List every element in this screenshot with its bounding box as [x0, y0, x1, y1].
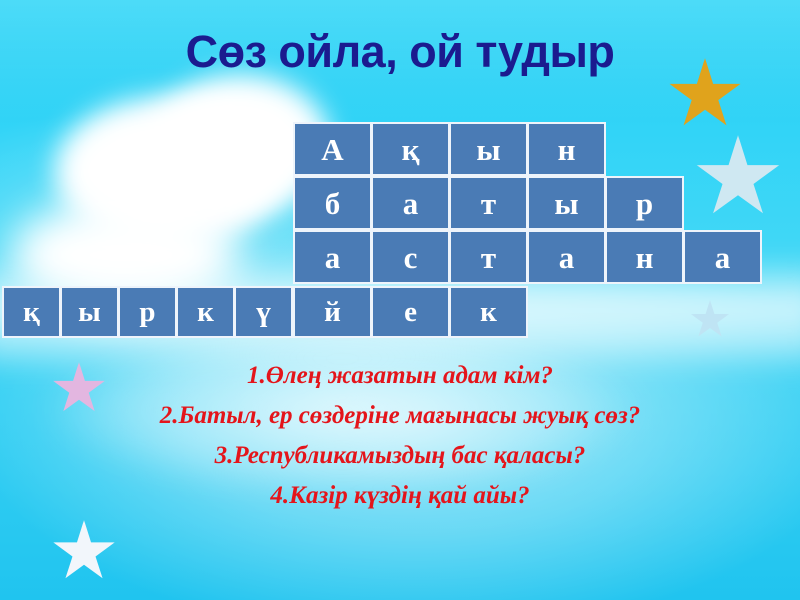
crossword-cell: б [293, 176, 372, 230]
crossword-cell: к [176, 286, 235, 338]
crossword-cell: ы [449, 122, 528, 176]
crossword-grid: Ақынбатырастанақыркүйек [0, 0, 800, 600]
crossword-cell: қ [2, 286, 61, 338]
crossword-cell: р [605, 176, 684, 230]
crossword-cell: а [293, 230, 372, 284]
questions-list: 1.Өлең жазатын адам кім?2.Батыл, ер сөзд… [0, 362, 800, 510]
crossword-cell: т [449, 230, 528, 284]
crossword-cell: с [371, 230, 450, 284]
crossword-cell: р [118, 286, 177, 338]
question-4: 4.Казір күздің қай айы? [0, 482, 800, 510]
crossword-cell: А [293, 122, 372, 176]
crossword-cell: т [449, 176, 528, 230]
crossword-cell: н [605, 230, 684, 284]
crossword-cell: қ [371, 122, 450, 176]
crossword-cell: е [371, 286, 450, 338]
question-2: 2.Батыл, ер сөздеріне мағынасы жуық сөз? [0, 402, 800, 430]
crossword-cell: а [371, 176, 450, 230]
slide-canvas: Сөз ойла, ой тудыр Ақынбатырастанақыркүй… [0, 0, 800, 600]
page-title: Сөз ойла, ой тудыр [0, 26, 800, 78]
crossword-cell: й [293, 286, 372, 338]
question-3: 3.Республикамыздың бас қаласы? [0, 442, 800, 470]
crossword-cell: а [527, 230, 606, 284]
crossword-cell: к [449, 286, 528, 338]
crossword-cell: н [527, 122, 606, 176]
crossword-cell: ы [60, 286, 119, 338]
crossword-cell: ы [527, 176, 606, 230]
crossword-cell: а [683, 230, 762, 284]
crossword-cell: ү [234, 286, 293, 338]
question-1: 1.Өлең жазатын адам кім? [0, 362, 800, 390]
